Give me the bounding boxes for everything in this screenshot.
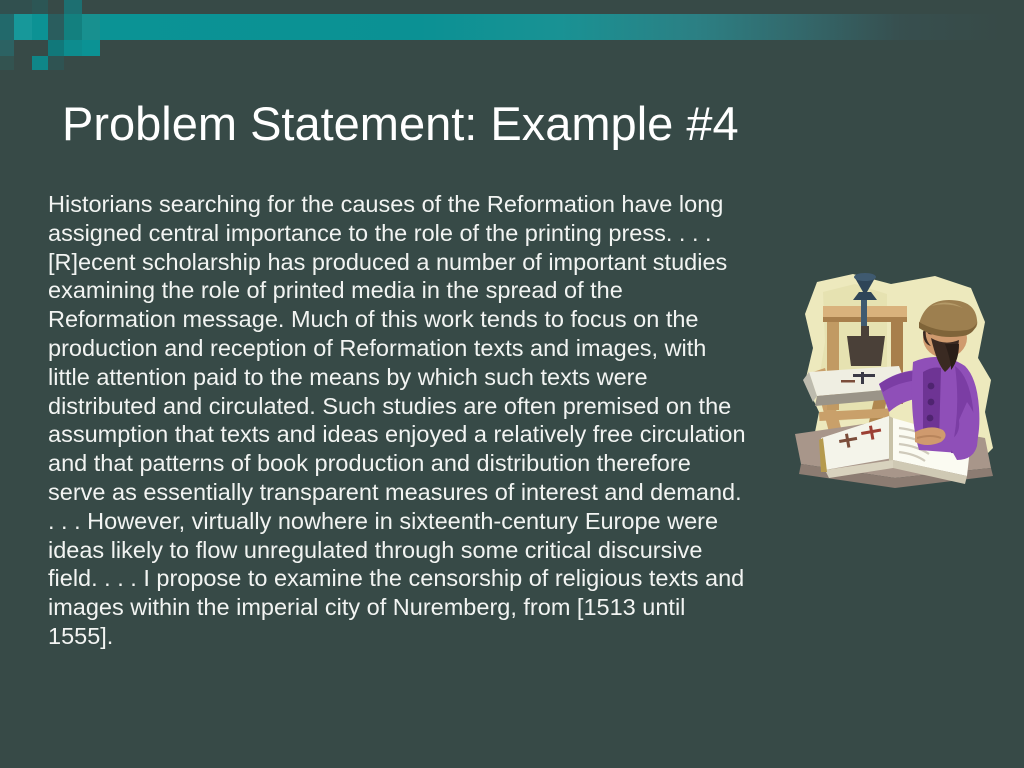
press-platen [847, 336, 885, 366]
tunic-button [927, 415, 934, 422]
slide: Problem Statement: Example #4 Historians… [0, 0, 1024, 768]
press-platen-stem [861, 326, 869, 340]
tunic-button [928, 399, 935, 406]
deco-block [0, 56, 14, 70]
printed-mark [861, 372, 864, 384]
printed-mark [841, 380, 855, 383]
tunic-button [928, 383, 935, 390]
header-accent-band [0, 14, 1024, 40]
deco-block [82, 14, 100, 40]
deco-block [64, 14, 82, 40]
deco-block [64, 0, 82, 14]
deco-block [14, 14, 32, 40]
book-spine [889, 416, 893, 462]
slide-body-text: Historians searching for the causes of t… [48, 190, 748, 651]
deco-block [32, 56, 48, 70]
deco-block [0, 14, 14, 40]
printing-press-illustration [795, 262, 1000, 497]
deco-block [82, 40, 100, 56]
deco-block [16, 0, 32, 14]
deco-block [0, 0, 16, 14]
deco-block [48, 56, 64, 70]
deco-block [48, 14, 64, 40]
deco-block [0, 40, 14, 56]
press-screw-cap [854, 273, 876, 281]
deco-block [32, 0, 48, 14]
slide-title: Problem Statement: Example #4 [62, 96, 962, 152]
deco-block [48, 40, 64, 56]
deco-block [64, 40, 82, 56]
corner-checkerboard-decoration [0, 0, 130, 70]
